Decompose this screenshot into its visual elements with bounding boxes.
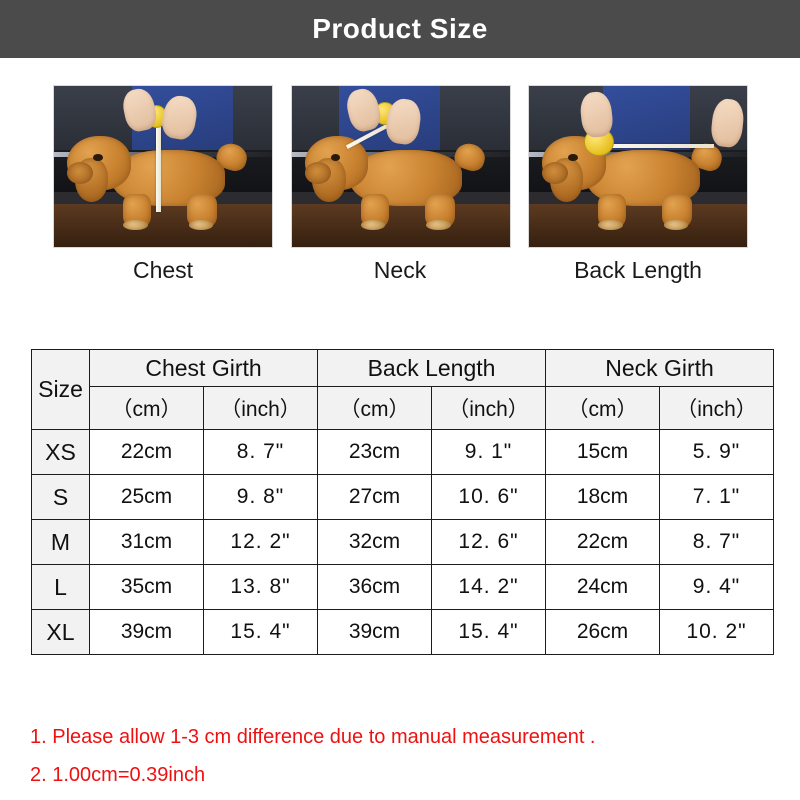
table-header-row-units: （cm） （inch） （cm） （inch） （cm） （inch） — [32, 387, 774, 430]
cell-chest-inch: 13. 8" — [204, 565, 318, 610]
header-neck-inch: （inch） — [660, 387, 774, 430]
cell-back-inch: 10. 6" — [432, 475, 546, 520]
dog-snout — [542, 162, 568, 184]
table-header: Size Chest Girth Back Length Neck Girth … — [32, 350, 774, 430]
cell-chest-cm: 25cm — [90, 475, 204, 520]
note-unit-conversion: 2. 1.00cm=0.39inch — [30, 756, 770, 794]
photo-scene-neck — [292, 86, 510, 247]
dog-eye — [93, 154, 102, 161]
cell-chest-cm: 39cm — [90, 610, 204, 655]
header-chest-girth: Chest Girth — [90, 350, 318, 387]
cell-neck-inch: 8. 7" — [660, 520, 774, 565]
cell-back-inch: 12. 6" — [432, 520, 546, 565]
dog-snout — [67, 162, 93, 184]
cell-neck-inch: 7. 1" — [660, 475, 774, 520]
dog-paw-front — [361, 220, 385, 230]
cell-back-inch: 14. 2" — [432, 565, 546, 610]
cell-size: XL — [32, 610, 90, 655]
cell-chest-inch: 9. 8" — [204, 475, 318, 520]
cell-back-cm: 36cm — [318, 565, 432, 610]
size-chart: Size Chest Girth Back Length Neck Girth … — [31, 349, 769, 655]
cell-chest-inch: 8. 7" — [204, 430, 318, 475]
cell-back-cm: 39cm — [318, 610, 432, 655]
cell-neck-inch: 5. 9" — [660, 430, 774, 475]
header-neck-girth: Neck Girth — [546, 350, 774, 387]
dog-paw-back — [426, 220, 450, 230]
header-back-cm: （cm） — [318, 387, 432, 430]
cell-neck-inch: 9. 4" — [660, 565, 774, 610]
cell-back-inch: 15. 4" — [432, 610, 546, 655]
table-row: L 35cm 13. 8" 36cm 14. 2" 24cm 9. 4" — [32, 565, 774, 610]
cell-chest-cm: 22cm — [90, 430, 204, 475]
table-row: M 31cm 12. 2" 32cm 12. 6" 22cm 8. 7" — [32, 520, 774, 565]
cell-size: L — [32, 565, 90, 610]
table-row: XS 22cm 8. 7" 23cm 9. 1" 15cm 5. 9" — [32, 430, 774, 475]
cell-neck-cm: 24cm — [546, 565, 660, 610]
table-header-row-groups: Size Chest Girth Back Length Neck Girth — [32, 350, 774, 387]
cell-size: XS — [32, 430, 90, 475]
cell-back-inch: 9. 1" — [432, 430, 546, 475]
photo-label-chest: Chest — [53, 257, 273, 284]
dog-eye — [568, 154, 577, 161]
plush-dog — [542, 128, 729, 228]
photo-label-back-length: Back Length — [528, 257, 748, 284]
dog-paw-back — [664, 220, 688, 230]
cell-neck-cm: 22cm — [546, 520, 660, 565]
table-body: XS 22cm 8. 7" 23cm 9. 1" 15cm 5. 9" S 25… — [32, 430, 774, 655]
dog-eye — [331, 154, 340, 161]
measurement-photo-strip — [53, 85, 748, 248]
cell-back-cm: 32cm — [318, 520, 432, 565]
cell-size: S — [32, 475, 90, 520]
footer-notes: 1. Please allow 1-3 cm difference due to… — [30, 718, 770, 794]
cell-neck-inch: 10. 2" — [660, 610, 774, 655]
page-title: Product Size — [312, 13, 488, 45]
dog-paw-front — [598, 220, 622, 230]
photo-label-neck: Neck — [290, 257, 510, 284]
photo-scene-back-length — [529, 86, 747, 247]
cell-neck-cm: 26cm — [546, 610, 660, 655]
note-measurement-tolerance: 1. Please allow 1-3 cm difference due to… — [30, 718, 770, 756]
cell-neck-cm: 18cm — [546, 475, 660, 520]
dog-paw-back — [189, 220, 213, 230]
table-row: S 25cm 9. 8" 27cm 10. 6" 18cm 7. 1" — [32, 475, 774, 520]
header-neck-cm: （cm） — [546, 387, 660, 430]
header-chest-cm: （cm） — [90, 387, 204, 430]
header-back-length: Back Length — [318, 350, 546, 387]
table-row: XL 39cm 15. 4" 39cm 15. 4" 26cm 10. 2" — [32, 610, 774, 655]
header-back-inch: （inch） — [432, 387, 546, 430]
size-table: Size Chest Girth Back Length Neck Girth … — [31, 349, 774, 655]
tape-measure-strip — [156, 121, 161, 211]
photo-neck — [291, 85, 511, 248]
cell-back-cm: 27cm — [318, 475, 432, 520]
dog-snout — [305, 162, 331, 184]
cell-chest-cm: 31cm — [90, 520, 204, 565]
header-banner: Product Size — [0, 0, 800, 58]
photo-back-length — [528, 85, 748, 248]
cell-chest-inch: 12. 2" — [204, 520, 318, 565]
photo-scene-chest — [54, 86, 272, 247]
photo-chest — [53, 85, 273, 248]
cell-chest-inch: 15. 4" — [204, 610, 318, 655]
cell-back-cm: 23cm — [318, 430, 432, 475]
header-chest-inch: （inch） — [204, 387, 318, 430]
cell-size: M — [32, 520, 90, 565]
cell-neck-cm: 15cm — [546, 430, 660, 475]
header-size: Size — [32, 350, 90, 430]
cell-chest-cm: 35cm — [90, 565, 204, 610]
dog-paw-front — [123, 220, 147, 230]
